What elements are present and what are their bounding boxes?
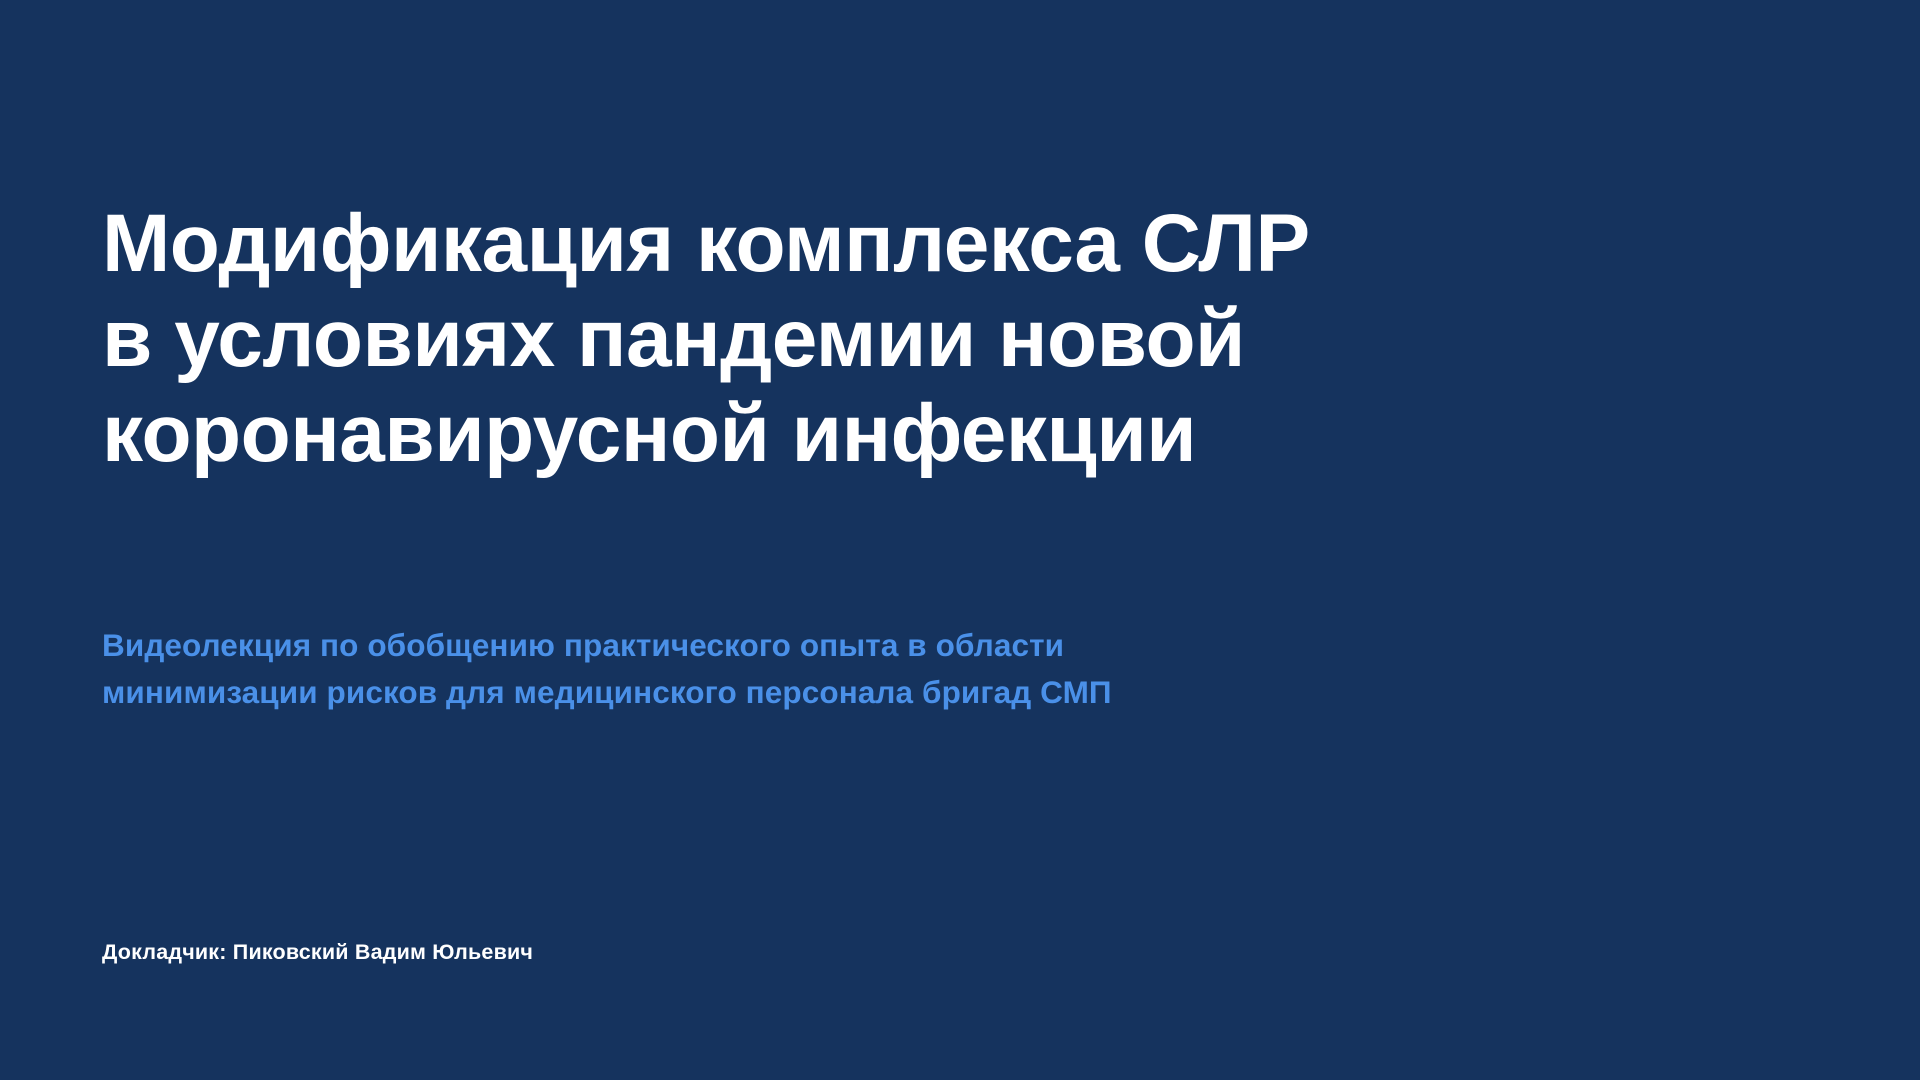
title-line-3: коронавирусной инфекции — [102, 386, 1802, 481]
slide-title: Модификация комплекса СЛР в условиях пан… — [102, 196, 1802, 481]
subtitle-line-1: Видеолекция по обобщению практического о… — [102, 622, 1802, 669]
presentation-slide: Модификация комплекса СЛР в условиях пан… — [0, 0, 1920, 1080]
speaker-label: Докладчик: Пиковский Вадим Юльевич — [102, 938, 533, 966]
slide-speaker: Докладчик: Пиковский Вадим Юльевич — [102, 938, 533, 966]
subtitle-line-2: минимизации рисков для медицинского перс… — [102, 669, 1802, 716]
title-line-2: в условиях пандемии новой — [102, 291, 1802, 386]
slide-subtitle: Видеолекция по обобщению практического о… — [102, 622, 1802, 716]
slide-content: Модификация комплекса СЛР в условиях пан… — [102, 0, 1832, 1080]
title-line-1: Модификация комплекса СЛР — [102, 196, 1802, 291]
